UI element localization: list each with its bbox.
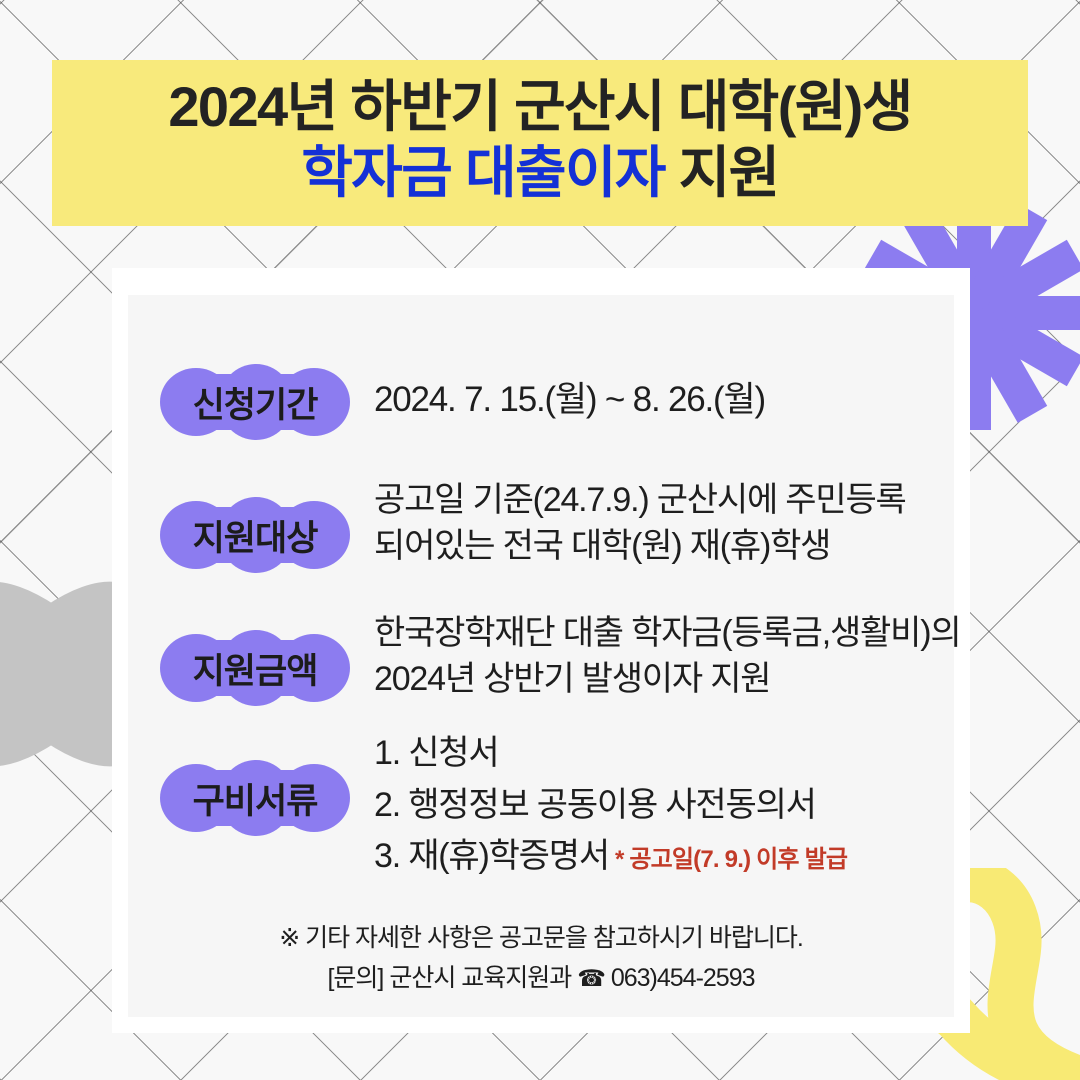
phone-icon: ☎ <box>577 965 605 991</box>
badge-label-application-period: 신청기간 <box>160 364 350 440</box>
row-line: 공고일 기준(24.7.9.) 군산시에 주민등록 <box>374 477 906 523</box>
footer-note: ※ 기타 자세한 사항은 공고문을 참고하시기 바랍니다. <box>112 920 970 958</box>
row-body-eligibility: 공고일 기준(24.7.9.) 군산시에 주민등록 되어있는 전국 대학(원) … <box>374 473 906 569</box>
document-item-2: 2. 행정정보 공동이용 사전동의서 <box>374 780 847 832</box>
row-line: 2024. 7. 15.(월) ~ 8. 26.(월) <box>374 376 765 424</box>
title-banner: 2024년 하반기 군산시 대학(원)생 학자금 대출이자 지원 <box>52 60 1028 226</box>
row-line: 되어있는 전국 대학(원) 재(휴)학생 <box>374 523 906 569</box>
row-body-application-period: 2024. 7. 15.(월) ~ 8. 26.(월) <box>374 364 765 424</box>
footer-contact: [문의] 군산시 교육지원과 ☎ 063)454-2593 <box>112 958 970 998</box>
title-line-1: 2024년 하반기 군산시 대학(원)생 <box>52 74 1028 140</box>
document-item-3-note: * 공고일(7. 9.) 이후 발급 <box>615 846 847 873</box>
footer-phone-number: 063)454-2593 <box>605 964 755 992</box>
info-row-required-documents: 구비서류 1. 신청서 2. 행정정보 공동이용 사전동의서 3. 재(휴)학증… <box>160 728 847 883</box>
badge-required-documents: 구비서류 <box>160 760 350 836</box>
row-line: 한국장학재단 대출 학자금(등록금,생활비)의 <box>374 610 960 656</box>
row-line: 2024년 상반기 발생이자 지원 <box>374 656 960 702</box>
badge-label-support-amount: 지원금액 <box>160 630 350 706</box>
row-body-support-amount: 한국장학재단 대출 학자금(등록금,생활비)의 2024년 상반기 발생이자 지… <box>374 606 960 702</box>
badge-eligibility: 지원대상 <box>160 497 350 573</box>
row-body-required-documents: 1. 신청서 2. 행정정보 공동이용 사전동의서 3. 재(휴)학증명서* 공… <box>374 728 847 883</box>
document-item-3-wrap: 3. 재(휴)학증명서* 공고일(7. 9.) 이후 발급 <box>374 831 847 883</box>
badge-support-amount: 지원금액 <box>160 630 350 706</box>
document-item-1: 1. 신청서 <box>374 728 847 780</box>
document-item-3: 3. 재(휴)학증명서 <box>374 837 609 875</box>
poster-root: 2024년 하반기 군산시 대학(원)생 학자금 대출이자 지원 신청기간 20… <box>0 0 1080 1080</box>
info-row-support-amount: 지원금액 한국장학재단 대출 학자금(등록금,생활비)의 2024년 상반기 발… <box>160 606 960 706</box>
footer: ※ 기타 자세한 사항은 공고문을 참고하시기 바랍니다. [문의] 군산시 교… <box>112 920 970 998</box>
badge-application-period: 신청기간 <box>160 364 350 440</box>
title-line-2-blue: 학자금 대출이자 <box>301 141 664 204</box>
info-rows: 신청기간 2024. 7. 15.(월) ~ 8. 26.(월) 지원대상 공고… <box>112 268 970 1033</box>
info-row-application-period: 신청기간 2024. 7. 15.(월) ~ 8. 26.(월) <box>160 364 765 440</box>
footer-contact-prefix: [문의] 군산시 교육지원과 <box>327 964 577 992</box>
badge-label-required-documents: 구비서류 <box>160 760 350 836</box>
badge-label-eligibility: 지원대상 <box>160 497 350 573</box>
title-line-2: 학자금 대출이자 지원 <box>52 140 1028 206</box>
title-line-2-dark: 지원 <box>665 141 779 204</box>
info-row-eligibility: 지원대상 공고일 기준(24.7.9.) 군산시에 주민등록 되어있는 전국 대… <box>160 473 906 573</box>
